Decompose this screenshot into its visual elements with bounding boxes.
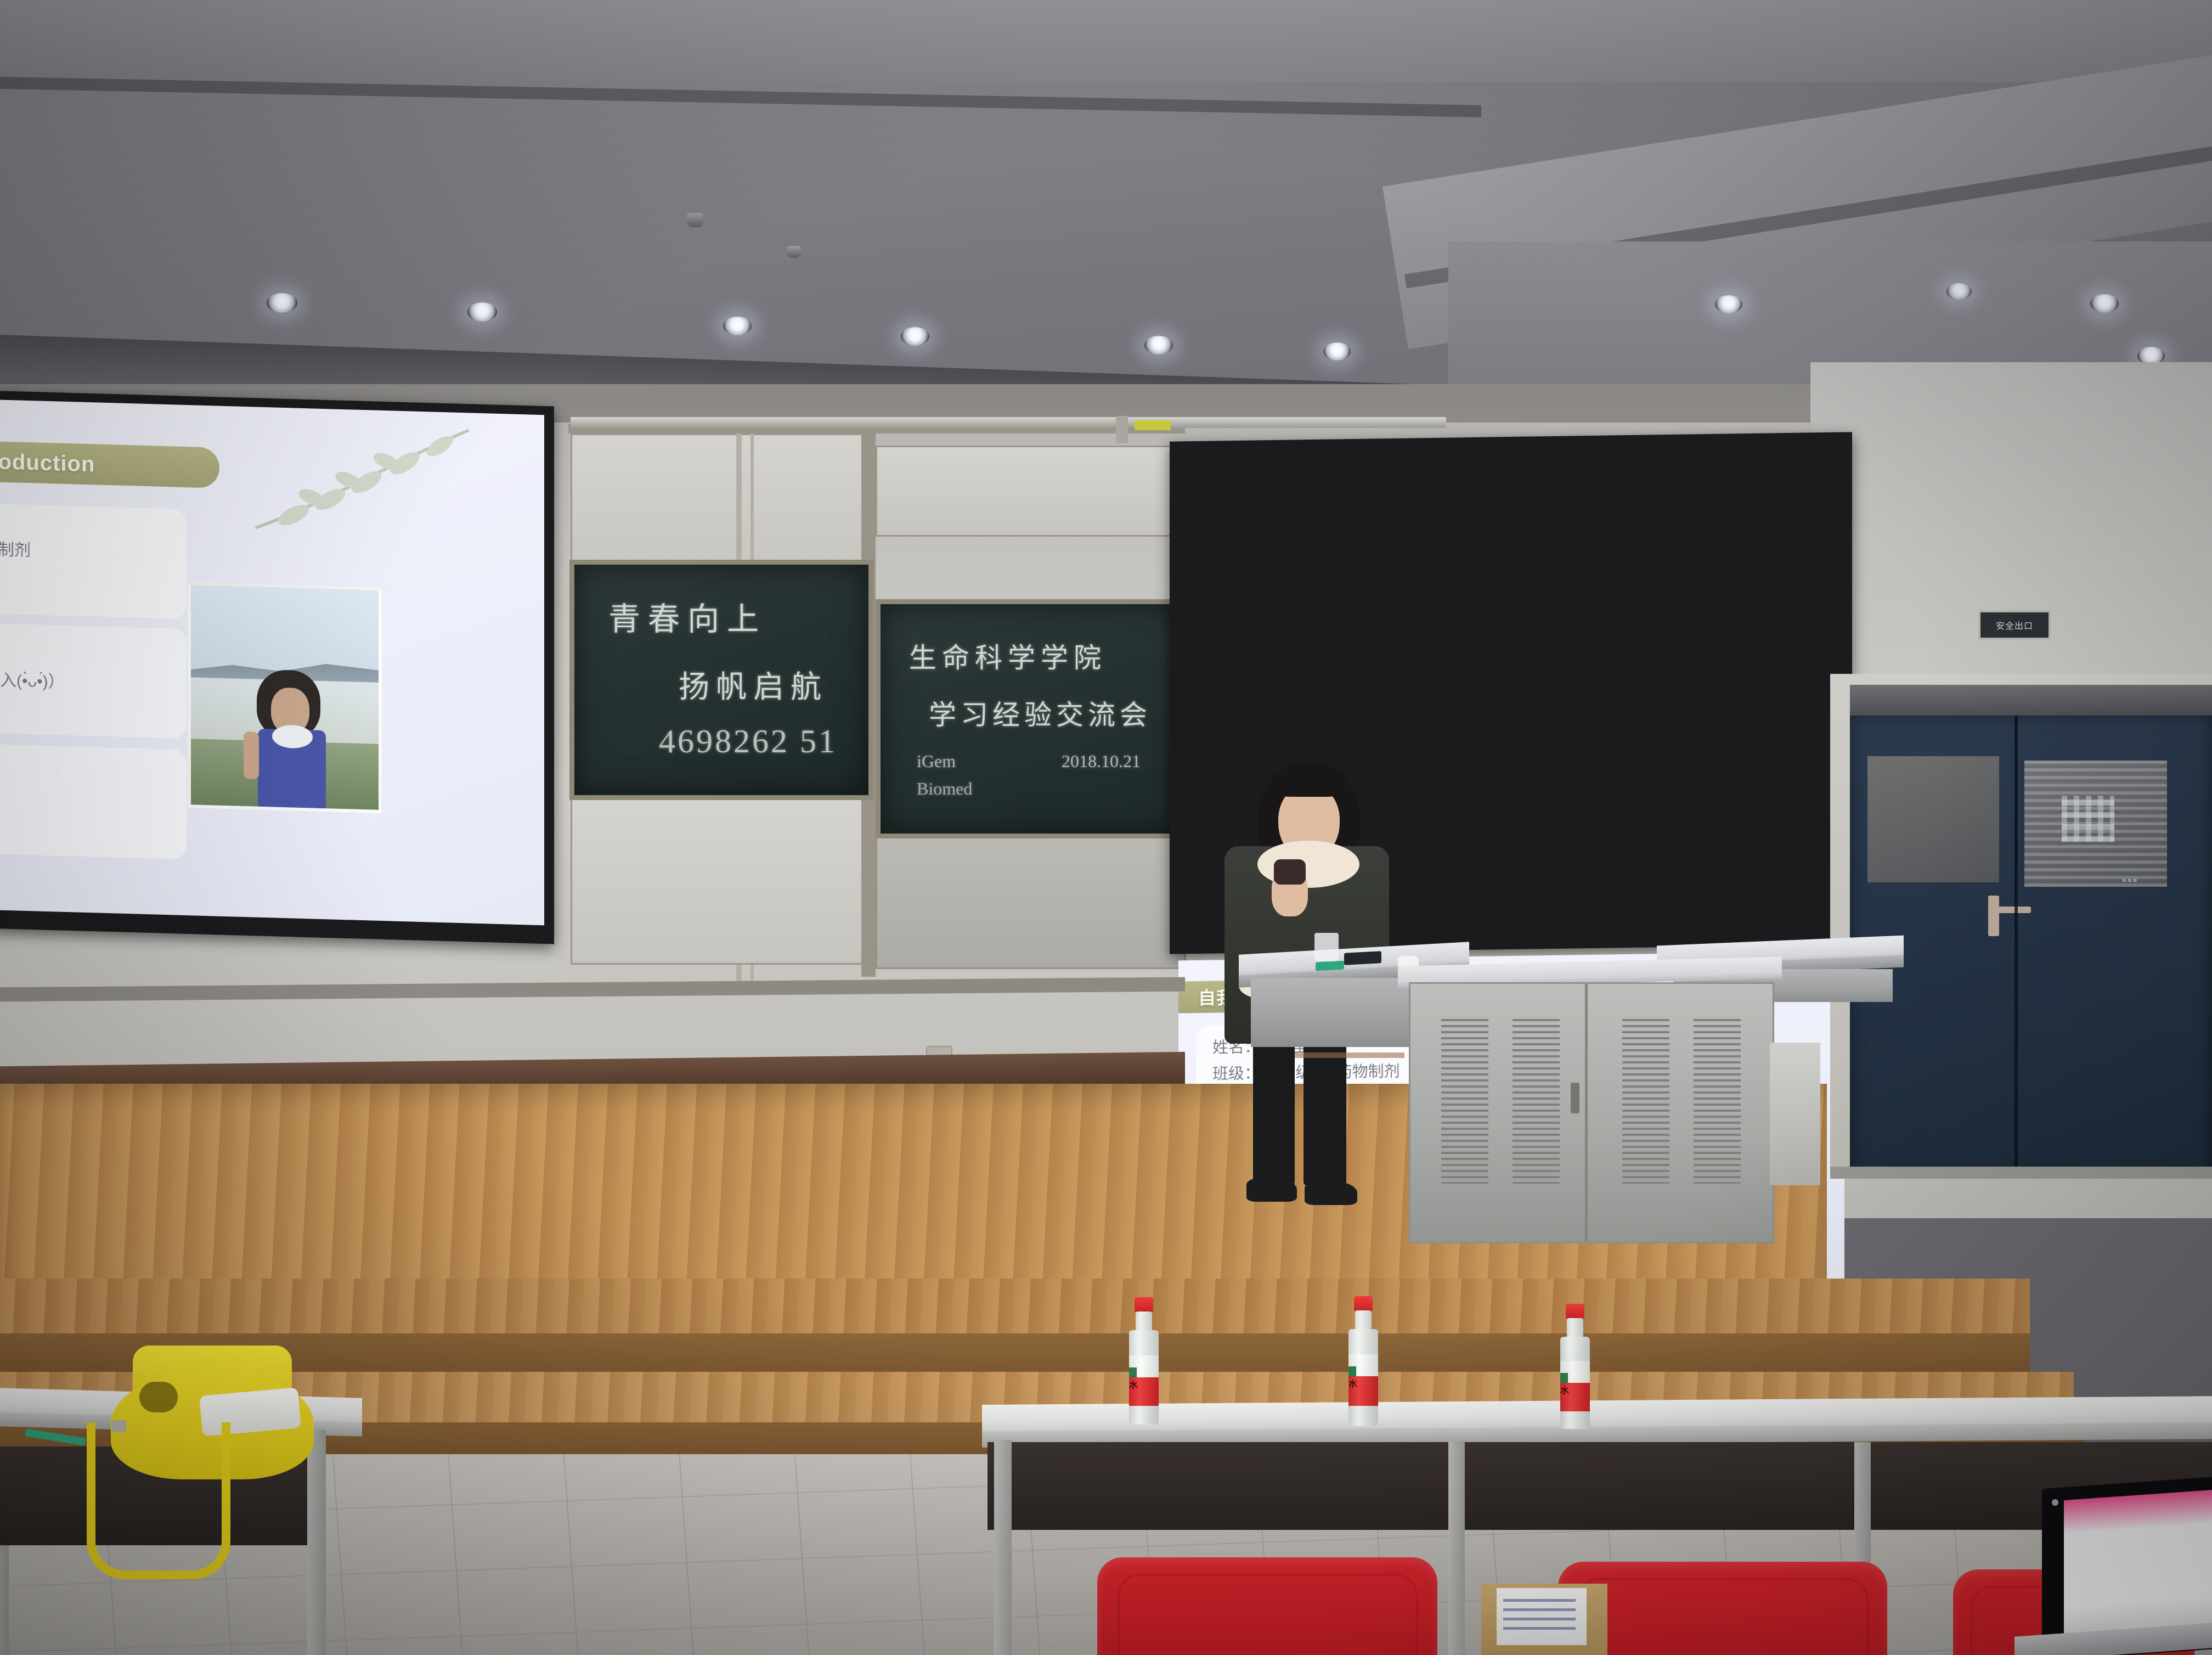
cabinet-handle-icon[interactable] bbox=[1571, 1083, 1579, 1113]
ceiling-soffit bbox=[0, 0, 2212, 82]
equipment-cabinet bbox=[1409, 982, 1774, 1243]
wall-panel-lower-left bbox=[571, 797, 865, 965]
sprinkler-icon bbox=[787, 246, 801, 258]
cabinet-side-box bbox=[1770, 1043, 1820, 1185]
slide-title-left: roduction bbox=[0, 438, 219, 488]
projection-screen-left: roduction 药物制剂 5 欢迎大家加入(•̀ᴗ•́)） 优异奖） bbox=[0, 399, 544, 926]
water-bottle: 水 bbox=[1345, 1296, 1381, 1426]
roller-yellow-label bbox=[1135, 420, 1171, 430]
podium-green-item bbox=[1316, 961, 1344, 971]
box-paper-text bbox=[1503, 1599, 1576, 1630]
water-bottle: 水 bbox=[1557, 1304, 1593, 1429]
audience-chair[interactable] bbox=[1097, 1557, 1437, 1655]
presenter-shoe-right bbox=[1305, 1181, 1357, 1205]
chair-seam bbox=[1118, 1574, 1418, 1655]
podium-paper-cup bbox=[1314, 933, 1339, 961]
downlight-icon bbox=[1323, 342, 1351, 361]
wall-panel-upper-right bbox=[876, 446, 1186, 537]
blackboard-right-date: 2018.10.21 bbox=[1062, 751, 1141, 772]
bag-opening-shadow bbox=[139, 1382, 178, 1412]
slide-surface-left: roduction 药物制剂 5 欢迎大家加入(•̀ᴗ•́)） 优异奖） bbox=[0, 399, 544, 926]
front-table-right-leg bbox=[994, 1440, 1012, 1655]
blackboard-right-line4: Biomed bbox=[917, 779, 972, 799]
door-glass-right-pattern bbox=[2062, 796, 2114, 842]
podium-phone bbox=[1344, 951, 1381, 965]
bag-strap bbox=[87, 1422, 230, 1579]
downlight-icon bbox=[1946, 283, 1972, 300]
door-handle-icon[interactable] bbox=[1988, 896, 1999, 936]
stage-front-band bbox=[1295, 1052, 1404, 1058]
bottle-label-red: 水 bbox=[1348, 1376, 1378, 1406]
bottle-label-red: 水 bbox=[1129, 1377, 1159, 1406]
blackboard-right: 生命科学学院 学习经验交流会 iGem Biomed 2018.10.21 bbox=[876, 599, 1197, 838]
cabinet-vent-left bbox=[1441, 1019, 1488, 1184]
blackboard-left-line1: 青春向上 bbox=[608, 593, 766, 639]
cabinet-vent-mid bbox=[1513, 1019, 1560, 1184]
audience-chair[interactable] bbox=[1558, 1562, 1887, 1655]
yellow-tote-bag bbox=[82, 1317, 357, 1646]
door-threshold bbox=[1830, 1167, 2212, 1179]
bottle-cap bbox=[1566, 1304, 1584, 1319]
slide-photo-left bbox=[188, 582, 382, 813]
downlight-icon bbox=[901, 327, 929, 346]
exit-sign-icon: 安全出口 bbox=[1978, 610, 2051, 640]
cabinet-vent-far bbox=[1694, 1019, 1741, 1184]
slide-line-left-1: 药物制剂 bbox=[0, 535, 31, 561]
blackboard-right-line1: 生命科学学院 bbox=[909, 636, 1107, 675]
downlight-icon bbox=[1715, 295, 1742, 313]
branch-decoration-icon bbox=[247, 413, 477, 557]
presenter-leg-right bbox=[1304, 1037, 1346, 1185]
roller-bracket bbox=[1116, 416, 1128, 443]
bottle-label-red: 水 bbox=[1560, 1383, 1590, 1411]
bottle-cap bbox=[1135, 1297, 1153, 1313]
slide-line-left-3: 欢迎大家加入(•̀ᴗ•́)） bbox=[0, 664, 65, 692]
door-glass-left bbox=[1867, 756, 1999, 882]
bottle-cap bbox=[1354, 1296, 1373, 1311]
exit-sign-label: 安全出口 bbox=[1996, 618, 2033, 632]
wall-panel-lower-right bbox=[876, 823, 1186, 969]
downlight-icon bbox=[723, 317, 752, 335]
downlight-icon bbox=[2090, 294, 2119, 313]
presenter-shoe-left bbox=[1246, 1178, 1297, 1202]
exit-door[interactable]: ■■■ bbox=[1850, 713, 2212, 1176]
blackboard-left-line3: 4698262 51 bbox=[659, 723, 837, 761]
blackboard-left-line2: 扬帆启航 bbox=[679, 662, 828, 707]
slide-card-left-3 bbox=[0, 742, 187, 859]
door-center-seam bbox=[2015, 713, 2018, 1176]
front-table-right-leg bbox=[1448, 1441, 1465, 1655]
door-handle-icon[interactable] bbox=[1997, 907, 2031, 913]
presenter-leg-left bbox=[1253, 1037, 1295, 1185]
lecture-hall-scene: 青春向上 扬帆启航 4698262 51 生命科学学院 学习经验交流会 iGem… bbox=[0, 0, 2212, 1655]
water-bottle: 水 bbox=[1126, 1297, 1162, 1425]
cardboard-box bbox=[1481, 1584, 1607, 1655]
blackboard-left: 青春向上 扬帆启航 4698262 51 bbox=[569, 560, 873, 800]
door-transom bbox=[1850, 685, 2212, 716]
blackboard-right-line3: iGem bbox=[917, 751, 956, 772]
bag-buckle-icon bbox=[112, 1420, 126, 1432]
downlight-icon bbox=[467, 302, 497, 322]
door-brand-label: ■■■ bbox=[2122, 876, 2138, 884]
projector-screen-roller bbox=[571, 417, 1446, 428]
laptop-webcam-icon bbox=[2052, 1499, 2058, 1506]
chair-seam bbox=[1578, 1578, 1869, 1655]
presenter-hair-front bbox=[1272, 766, 1346, 797]
cabinet-door-seam bbox=[1585, 984, 1588, 1242]
cabinet-vent-right bbox=[1622, 1019, 1669, 1184]
downlight-icon bbox=[1144, 336, 1173, 354]
presenter-clicker bbox=[1274, 859, 1306, 885]
blackboard-right-line2: 学习经验交流会 bbox=[929, 693, 1152, 733]
laptop[interactable] bbox=[1982, 1449, 2212, 1655]
sprinkler-icon bbox=[687, 213, 703, 227]
downlight-icon bbox=[267, 293, 297, 313]
